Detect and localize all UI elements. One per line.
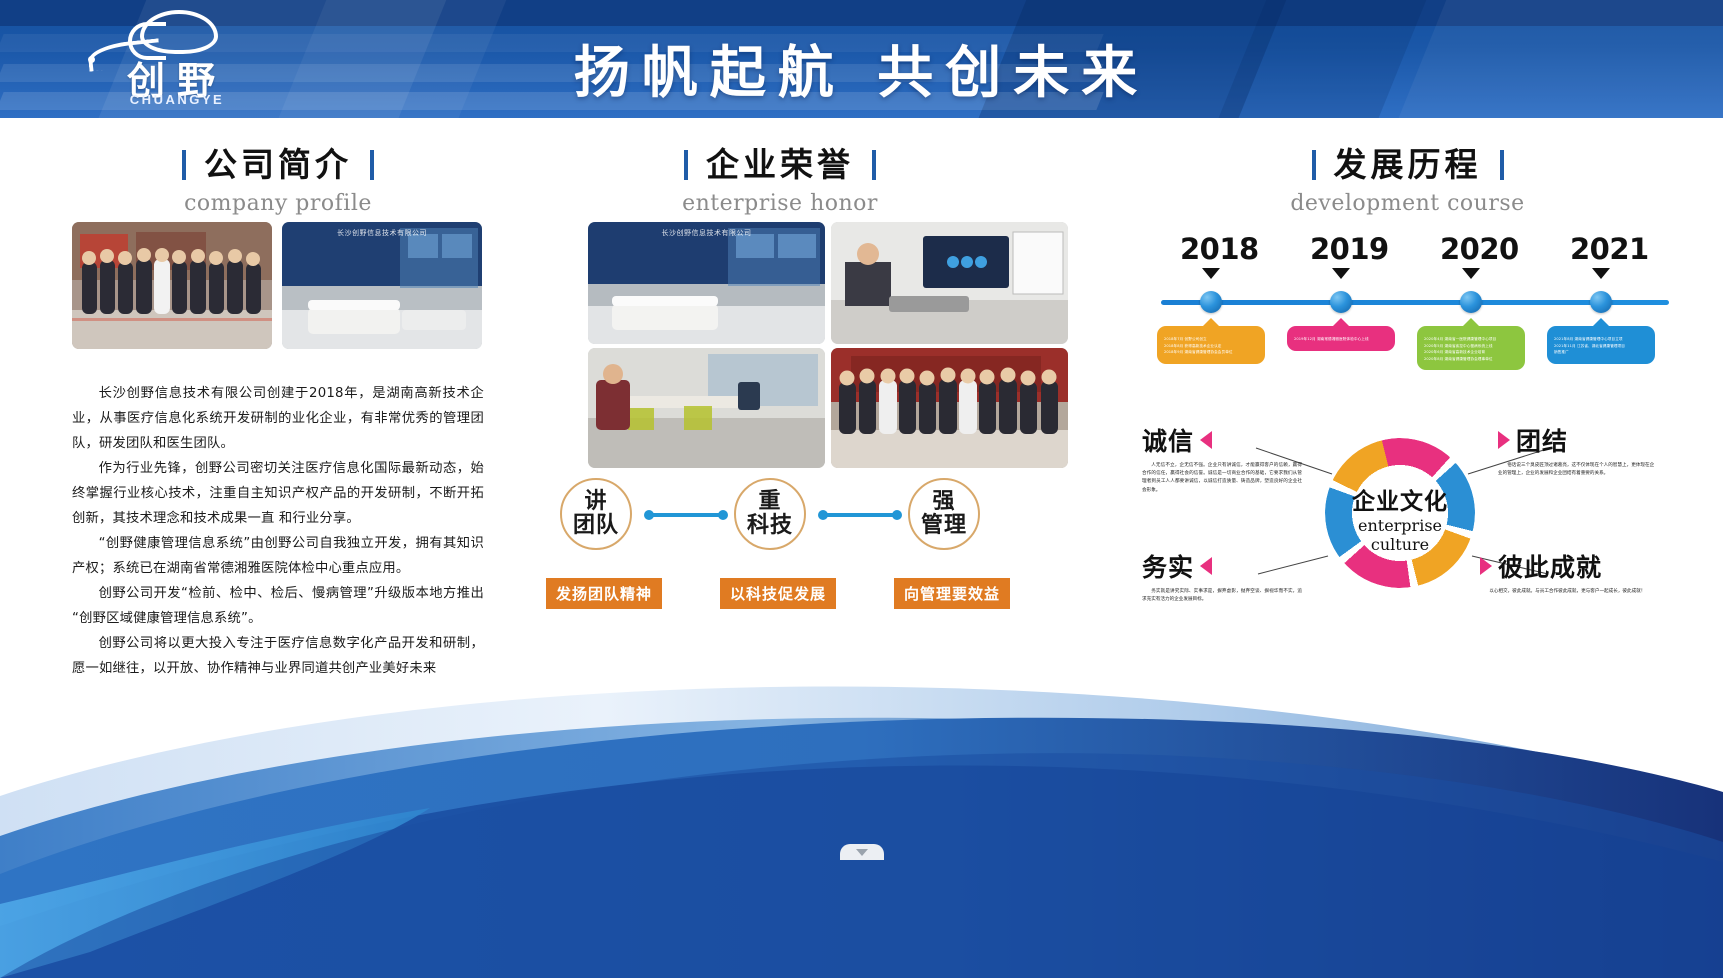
timeline-event: 2020年8月 湖南省健康管理协会理事单位 <box>1424 356 1518 363</box>
timeline-year-2018: 2018 <box>1180 232 1259 266</box>
culture-item-mutual-achievement: 彼此成就 以心相交，彼此成就。与员工合作彼此成就，更与客户一起成长，彼此成就！ <box>1480 548 1660 596</box>
culture-item-unity: 团结 俗话说三个臭皮匠顶过诸葛亮，这不仅体现在个人的智慧上，更体现在企业的管理上… <box>1498 422 1658 478</box>
heading-rule-right <box>1500 150 1504 180</box>
arrow-left-icon <box>1200 431 1212 449</box>
timeline-card-tip <box>1332 318 1350 327</box>
culture-item-title: 团结 <box>1516 422 1568 458</box>
heading-rule-left <box>182 150 186 180</box>
timeline-year-2020: 2020 <box>1440 232 1519 266</box>
section-heading-profile: 公司简介 company profile <box>72 138 484 216</box>
timeline-card-tip <box>1202 318 1220 327</box>
value-tag-team[interactable]: 发扬团队精神 <box>546 578 662 609</box>
heading-rule-right <box>872 150 876 180</box>
value-connector-1 <box>648 513 724 517</box>
profile-photo-reception: 长沙创野信息技术有限公司 <box>282 222 482 349</box>
timeline-event: 销售推广 <box>1554 349 1648 356</box>
heading-rule-left <box>1312 150 1316 180</box>
section-title-profile-en: company profile <box>72 191 484 216</box>
profile-paragraph: 长沙创野信息技术有限公司创建于2018年，是湖南高新技术企业，从事医疗信息化系统… <box>72 381 484 456</box>
chevron-down-icon <box>856 849 868 856</box>
heading-rule-right <box>370 150 374 180</box>
timeline-card-2019: 2019年12月 湖南常德湘雅医院体检中心上线 <box>1287 326 1395 351</box>
timeline-card-2018: 2018年7月 创野公司创立 2018年8月 获得高新技术企业认定 2018年9… <box>1157 326 1265 364</box>
enterprise-culture-diagram: 企业文化 enterprise culture 诚信 人无信不立，企无信不强。企… <box>1150 398 1650 628</box>
profile-paragraph: 创野公司开发“检前、检中、检后、慢病管理”升级版本地方推出“创野区域健康管理信息… <box>72 581 484 631</box>
timeline-event: 2020年6月 湖南省高新技术企业培育 <box>1424 349 1518 356</box>
timeline-node-2020 <box>1460 291 1482 313</box>
timeline-event: 2021年8月 湖南省健康管理中心项目立项 <box>1554 336 1648 343</box>
section-heading-honor: 企业荣誉 enterprise honor <box>560 138 1000 216</box>
profile-photo-team <box>72 222 272 349</box>
honor-photo-award-group <box>831 348 1068 468</box>
arrow-right-icon <box>1480 557 1492 575</box>
timeline-caret-2018 <box>1202 268 1220 279</box>
profile-text-block: 长沙创野信息技术有限公司创建于2018年，是湖南高新技术企业，从事医疗信息化系统… <box>72 381 484 681</box>
timeline-card-tip <box>1462 318 1480 327</box>
section-heading-course: 发展历程 development course <box>1155 138 1660 216</box>
value-circle-line1: 强 <box>932 489 955 514</box>
honor-photo-reception: 长沙创野信息技术有限公司 <box>588 222 825 344</box>
honor-photo-meeting <box>831 222 1068 344</box>
arrow-left-icon <box>1200 557 1212 575</box>
timeline-event: 2020年5月 湖南省疾控中心慢病系统上线 <box>1424 343 1518 350</box>
culture-item-body: 俗话说三个臭皮匠顶过诸葛亮，这不仅体现在个人的智慧上，更体现在企业的管理上，企业… <box>1498 462 1658 478</box>
honor-photo-openoffice <box>588 348 825 468</box>
value-circle-line2: 管理 <box>921 513 967 538</box>
page-title: 扬帆起航 共创未来 <box>0 28 1723 109</box>
culture-item-title: 诚信 <box>1142 422 1194 458</box>
timeline-caret-2019 <box>1332 268 1350 279</box>
value-circle-tech: 重科技 <box>734 478 806 550</box>
culture-item-integrity: 诚信 人无信不立，企无信不强。企业只有讲诚信，才能赢得客户的信赖，赢得合作的信任… <box>1142 422 1302 495</box>
poster-body: 公司简介 company profile <box>0 118 1723 860</box>
value-circle-line2: 科技 <box>747 513 793 538</box>
honor-photo-caption: 长沙创野信息技术有限公司 <box>588 228 825 238</box>
development-timeline: 2018 2018年7月 创野公司创立 2018年8月 获得高新技术企业认定 2… <box>1155 228 1675 408</box>
culture-item-title: 务实 <box>1142 548 1194 584</box>
timeline-caret-2020 <box>1462 268 1480 279</box>
core-values-group: 讲团队 重科技 强管理 发扬团队精神 以科技促发展 向管理要效益 <box>560 478 980 608</box>
value-circle-line1: 讲 <box>584 489 607 514</box>
section-title-honor-cn: 企业荣誉 <box>706 138 854 186</box>
profile-photo-caption: 长沙创野信息技术有限公司 <box>282 228 482 238</box>
value-connector-2 <box>822 513 898 517</box>
culture-item-title: 彼此成就 <box>1498 548 1602 584</box>
section-title-course-cn: 发展历程 <box>1334 138 1482 186</box>
timeline-caret-2021 <box>1592 268 1610 279</box>
timeline-event: 2019年12月 湖南常德湘雅医院体检中心上线 <box>1294 336 1388 343</box>
timeline-event: 2018年7月 创野公司创立 <box>1164 336 1258 343</box>
profile-paragraph: 作为行业先锋，创野公司密切关注医疗信息化国际最新动态，始终掌握行业核心技术，注重… <box>72 456 484 531</box>
arrow-right-icon <box>1498 431 1510 449</box>
timeline-card-tip <box>1592 318 1610 327</box>
timeline-card-2021: 2021年8月 湖南省健康管理中心项目立项 2021年11月 江苏省、湖北省健康… <box>1547 326 1655 364</box>
value-circle-line1: 重 <box>758 489 781 514</box>
timeline-year-2019: 2019 <box>1310 232 1389 266</box>
section-title-profile-cn: 公司简介 <box>204 138 352 186</box>
value-circle-management: 强管理 <box>908 478 980 550</box>
profile-paragraph: 创野公司将以更大投入专注于医疗信息数字化产品开发和研制，愿一如继往，以开放、协作… <box>72 631 484 681</box>
value-circle-line2: 团队 <box>573 513 619 538</box>
section-title-course-en: development course <box>1155 191 1660 216</box>
timeline-event: 2020年4月 湖南省一医院健康管理中心项目 <box>1424 336 1518 343</box>
timeline-card-2020: 2020年4月 湖南省一医院健康管理中心项目 2020年5月 湖南省疾控中心慢病… <box>1417 326 1525 370</box>
culture-item-body: 人无信不立，企无信不强。企业只有讲诚信，才能赢得客户的信赖，赢得合作的信任，赢得… <box>1142 462 1302 495</box>
page-header: 创野 CHUANGYE 扬帆起航 共创未来 <box>0 0 1723 118</box>
heading-rule-left <box>684 150 688 180</box>
culture-item-pragmatism: 务实 务实就是讲究实际、实事求是，摒弃虚影，抛弃空谈、摒视华而不实，追求充实有活… <box>1142 548 1302 604</box>
timeline-event: 2018年8月 获得高新技术企业认定 <box>1164 343 1258 350</box>
timeline-event: 2021年11月 江苏省、湖北省健康管理项目 <box>1554 343 1648 350</box>
timeline-node-2019 <box>1330 291 1352 313</box>
timeline-year-2021: 2021 <box>1570 232 1649 266</box>
profile-paragraph: “创野健康管理信息系统”由创野公司自我独立开发，拥有其知识产权；系统已在湖南省常… <box>72 531 484 581</box>
scroll-down-indicator[interactable] <box>840 844 884 860</box>
timeline-event: 2018年9月 湖南省健康管理协会会员单位 <box>1164 349 1258 356</box>
value-tag-tech[interactable]: 以科技促发展 <box>720 578 836 609</box>
section-title-honor-en: enterprise honor <box>560 191 1000 216</box>
culture-item-body: 以心相交，彼此成就。与员工合作彼此成就，更与客户一起成长，彼此成就！ <box>1480 588 1660 596</box>
timeline-node-2021 <box>1590 291 1612 313</box>
value-circle-team: 讲团队 <box>560 478 632 550</box>
culture-item-body: 务实就是讲究实际、实事求是，摒弃虚影，抛弃空谈、摒视华而不实，追求充实有活力的企… <box>1142 588 1302 604</box>
timeline-node-2018 <box>1200 291 1222 313</box>
value-tag-management[interactable]: 向管理要效益 <box>894 578 1010 609</box>
